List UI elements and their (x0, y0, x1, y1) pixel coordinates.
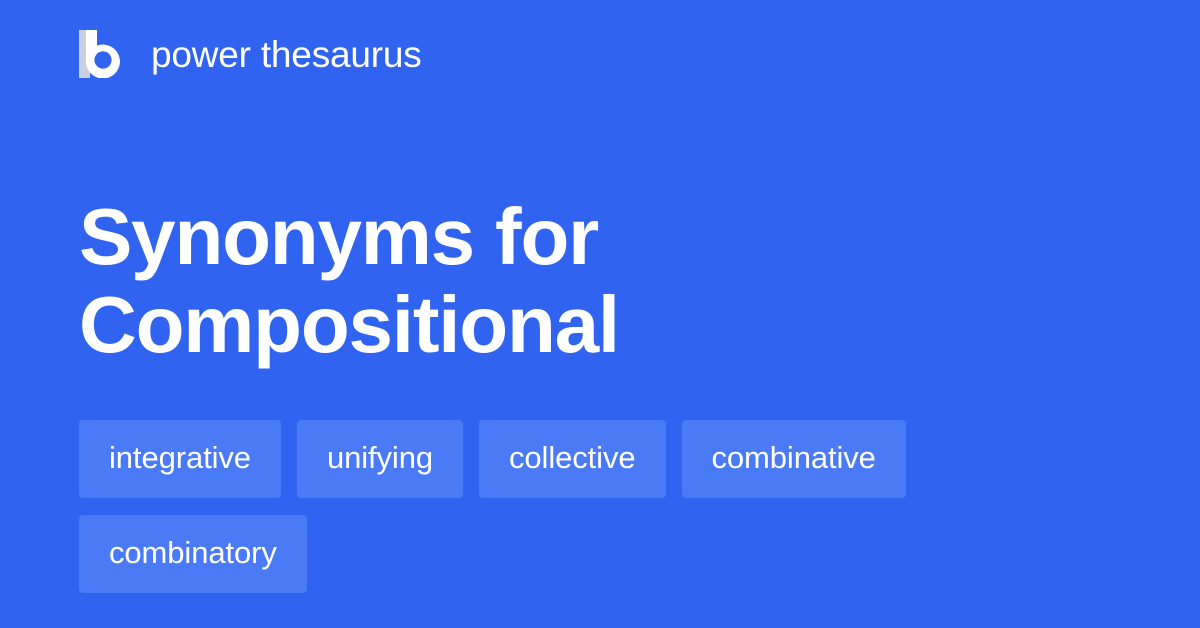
headline-line-2: Compositional (79, 281, 1079, 370)
synonym-chip[interactable]: combinatory (79, 515, 307, 593)
synonym-chip-list: integrative unifying collective combinat… (79, 420, 1089, 593)
og-card: power thesaurus Synonyms for Composition… (0, 0, 1200, 628)
brand-name: power thesaurus (151, 36, 422, 73)
brand-logo[interactable]: power thesaurus (79, 28, 422, 80)
synonym-chip[interactable]: unifying (297, 420, 463, 498)
synonym-chip[interactable]: combinative (682, 420, 906, 498)
headline-line-1: Synonyms for (79, 193, 1079, 282)
synonym-chip[interactable]: integrative (79, 420, 281, 498)
synonym-chip[interactable]: collective (479, 420, 666, 498)
power-thesaurus-b-logo-icon (79, 30, 125, 78)
page-title: Synonyms for Compositional (79, 193, 1079, 371)
